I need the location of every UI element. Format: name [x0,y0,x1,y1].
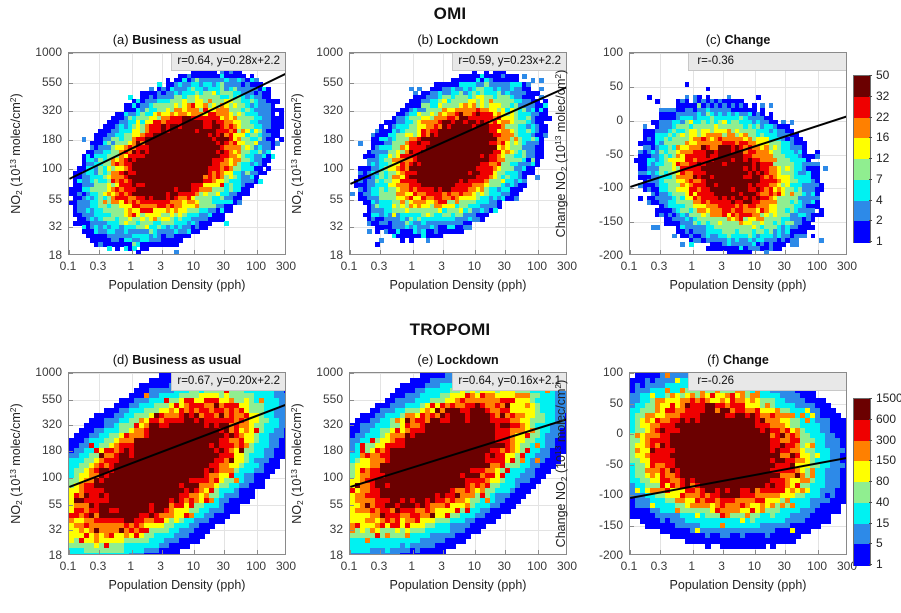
x-tick-mark [723,250,724,254]
figure-root: OMI TROPOMI (a) Business as usualr=0.64,… [0,0,901,613]
heatmap-cell [438,234,443,239]
y-axis-label-b: NO2 (1013 molec/cm2) [289,52,305,255]
y-tick-mark [350,227,354,228]
panel-title-a: (a) Business as usual [68,32,286,47]
heatmap-cell [258,179,263,184]
y-tick-label: -150 [583,214,623,228]
heatmap-cell [250,183,255,188]
y-tick-mark [350,53,354,54]
y-tick-label: 55 [22,192,62,206]
panel-title-d: (d) Business as usual [68,352,286,367]
y-tick-label: 320 [22,103,62,117]
heatmap-cells-c [630,53,846,254]
x-tick-mark [785,250,786,254]
y-tick-label: -200 [583,248,623,262]
y-tick-label: 100 [303,161,343,175]
x-tick-mark [69,250,70,254]
heatmap-cell [266,158,271,163]
heatmap-cell [819,238,824,243]
y-tick-label: 320 [303,103,343,117]
heatmap-cell [275,141,280,146]
heatmap-cell [174,250,179,255]
x-tick-label: 0.3 [371,259,388,273]
y-tick-label: 180 [303,132,343,146]
heatmap-cell [706,87,711,92]
y-tick-mark [69,53,73,54]
y-tick-label: 1000 [22,45,62,59]
x-tick-label: 1 [408,259,415,273]
heatmap-cell [262,171,267,176]
x-tick-label: 0.1 [341,259,358,273]
heatmap-cell [819,187,824,192]
y-axis-label-a: NO2 (1013 molec/cm2) [8,52,24,255]
x-tick-label: 30 [778,259,791,273]
heatmap-cell [266,166,271,171]
heatmap-cell [468,225,473,230]
x-tick-label: 300 [276,259,296,273]
heatmap-cell [689,242,694,247]
heatmap-cell [271,145,276,150]
x-tick-label: 3 [438,259,445,273]
x-tick-mark [194,250,195,254]
y-tick-label: 1000 [303,45,343,59]
heatmap-cell [459,229,464,234]
x-tick-mark [693,250,694,254]
heatmap-cell [547,116,552,121]
x-tick-mark [413,250,414,254]
heatmap-cell [245,192,250,197]
heatmap-cell [539,87,544,92]
heatmap-cell [497,204,502,209]
y-tick-mark [630,188,634,189]
y-tick-label: 100 [22,161,62,175]
heatmap-cell [781,242,786,247]
panel-letter-d: (d) [113,352,133,367]
heatmap-cell [685,82,690,87]
heatmap-cells-d [69,373,285,554]
y-tick-mark [350,111,354,112]
panel-title-text-b: Lockdown [437,33,499,47]
x-tick-mark [443,250,444,254]
stats-annotation-a: r=0.64, y=0.28x+2.2 [171,52,286,71]
panel-c: (c) Changer=-0.36-200-150-100-500501000.… [629,52,847,255]
heatmap-cell [350,192,355,197]
x-axis-label-a: Population Density (pph) [68,278,286,292]
heatmap-cell [375,242,380,247]
x-tick-label: 100 [246,259,266,273]
y-tick-mark [350,169,354,170]
y-tick-label: 32 [303,219,343,233]
x-tick-mark [132,250,133,254]
row-title-omi: OMI [350,4,550,24]
x-tick-label: 0.1 [60,259,77,273]
heatmap-cell [195,229,200,234]
panel-title-text-c: Change [724,33,770,47]
heatmap-cell [187,234,192,239]
heatmap-cell [802,234,807,239]
y-tick-mark [69,227,73,228]
heatmap-cell [400,238,405,243]
y-tick-label: 32 [22,219,62,233]
y-tick-mark [69,200,73,201]
x-tick-label: 10 [748,259,761,273]
heatmap-cell [680,242,685,247]
heatmap-cell [823,166,828,171]
y-tick-label: -50 [583,147,623,161]
heatmap-cell [531,78,536,83]
y-axis-label-c: Change NO2 (1013 molec/cm2) [553,52,569,255]
x-tick-label: 10 [187,259,200,273]
y-tick-label: -100 [583,180,623,194]
heatmap-cell [535,175,540,180]
heatmap-cells-a [69,53,285,254]
x-tick-mark [818,250,819,254]
x-axis-label-c: Population Density (pph) [629,278,847,292]
heatmap-cell [174,242,179,247]
row-title-tropomi: TROPOMI [350,320,550,340]
y-tick-label: 550 [22,75,62,89]
x-tick-label: 0.3 [651,259,668,273]
x-tick-mark [538,250,539,254]
x-tick-label: 100 [807,259,827,273]
x-tick-mark [660,250,661,254]
x-tick-mark [162,250,163,254]
x-tick-label: 30 [498,259,511,273]
heatmap-cell [655,225,660,230]
heatmap-cell [811,234,816,239]
panel-letter-b: (b) [417,32,437,47]
heatmap-cell [647,95,652,100]
heatmap-cell [539,154,544,159]
heatmap-cell [208,221,213,226]
x-tick-label: 300 [557,259,577,273]
heatmap-cell [178,238,183,243]
x-tick-mark [475,250,476,254]
heatmap-cell [136,250,141,255]
y-tick-label: 0 [583,113,623,127]
y-tick-mark [69,111,73,112]
heatmap-cell [794,242,799,247]
heatmap-cell [539,78,544,83]
x-tick-mark [755,250,756,254]
y-tick-mark [350,83,354,84]
x-tick-mark [224,250,225,254]
heatmap-cell [764,250,769,255]
heatmap-cell [379,238,384,243]
axes-b: r=0.59, y=0.23x+2.2 [349,52,567,255]
heatmap-cell [271,154,276,159]
heatmap-cell [279,453,285,459]
heatmap-cell [815,154,820,159]
heatmap-cell [790,120,795,125]
heatmap-cell [275,99,280,104]
heatmap-cell [811,225,816,230]
axes-a: r=0.64, y=0.28x+2.2 [68,52,286,255]
y-tick-mark [350,200,354,201]
y-tick-label: 550 [303,75,343,89]
x-tick-mark [350,250,351,254]
heatmap-cell [819,213,824,218]
heatmap-cell [237,200,242,205]
y-tick-mark [630,53,634,54]
x-tick-label: 10 [468,259,481,273]
heatmap-cell [480,217,485,222]
heatmap-cell [409,238,414,243]
y-tick-mark [69,83,73,84]
heatmap-cell [769,103,774,108]
heatmap-cell [145,246,150,251]
x-tick-mark [630,250,631,254]
x-tick-label: 100 [527,259,547,273]
heatmap-cell [514,196,519,201]
heatmap-cell [484,213,489,218]
heatmap-cell [655,99,660,104]
heatmap-cell [543,133,548,138]
heatmap-cell [358,141,363,146]
heatmap-cell [367,229,372,234]
y-tick-label: 180 [22,132,62,146]
panel-a: (a) Business as usualr=0.64, y=0.28x+2.2… [68,52,286,255]
y-tick-mark [350,140,354,141]
heatmap-cell [522,74,527,79]
heatmap-cell [756,95,761,100]
heatmap-cell [638,196,643,201]
x-tick-label: 3 [718,259,725,273]
heatmap-cell [107,246,112,251]
x-axis-label-b: Population Density (pph) [349,278,567,292]
x-tick-label: 1 [688,259,695,273]
x-tick-label: 30 [217,259,230,273]
heatmap-cell [535,162,540,167]
heatmap-cell [279,137,284,142]
y-tick-mark [69,140,73,141]
axes-d: r=0.67, y=0.20x+2.2 [68,372,286,555]
y-tick-mark [69,169,73,170]
heatmap-cell [518,187,523,192]
heatmap-cell [811,217,816,222]
panel-b: (b) Lockdownr=0.59, y=0.23x+2.2183255100… [349,52,567,255]
x-tick-mark [380,250,381,254]
panel-title-b: (b) Lockdown [349,32,567,47]
heatmap-cell [522,183,527,188]
heatmap-cell [375,229,380,234]
panel-title-text-d: Business as usual [132,353,241,367]
x-tick-label: 0.3 [90,259,107,273]
y-tick-label: 55 [303,192,343,206]
heatmap-cell [115,246,120,251]
heatmap-cells-b [350,53,566,254]
heatmap-cell [493,208,498,213]
heatmap-cell [426,238,431,243]
panel-letter-a: (a) [113,32,133,47]
heatmap-cell [777,246,782,251]
y-tick-label: 18 [303,248,343,262]
y-tick-mark [630,121,634,122]
heatmap-cell [82,137,87,142]
y-tick-label: 18 [22,248,62,262]
y-tick-label: 50 [583,79,623,93]
y-tick-label: 100 [583,45,623,59]
heatmap-cell [224,221,229,226]
x-tick-label: 1 [127,259,134,273]
heatmap-cell [229,208,234,213]
y-tick-mark [630,155,634,156]
x-tick-label: 300 [837,259,857,273]
x-tick-label: 3 [157,259,164,273]
heatmap-cell [748,250,753,255]
x-tick-label: 0.1 [621,259,638,273]
axes-c: r=-0.36 [629,52,847,255]
heatmap-cell [672,234,677,239]
y-tick-mark [630,87,634,88]
panel-title-c: (c) Change [629,32,847,47]
panel-title-text-a: Business as usual [132,33,241,47]
stats-annotation-b: r=0.59, y=0.23x+2.2 [452,52,567,71]
x-tick-mark [505,250,506,254]
x-tick-mark [257,250,258,254]
heatmap-cell [279,124,284,129]
y-tick-mark [630,222,634,223]
x-tick-mark [99,250,100,254]
heatmap-cell [203,225,208,230]
stats-annotation-c: r=-0.36 [688,52,847,71]
panel-d: (d) Business as usualr=0.67, y=0.20x+2.2… [68,372,286,555]
panel-letter-c: (c) [706,32,725,47]
